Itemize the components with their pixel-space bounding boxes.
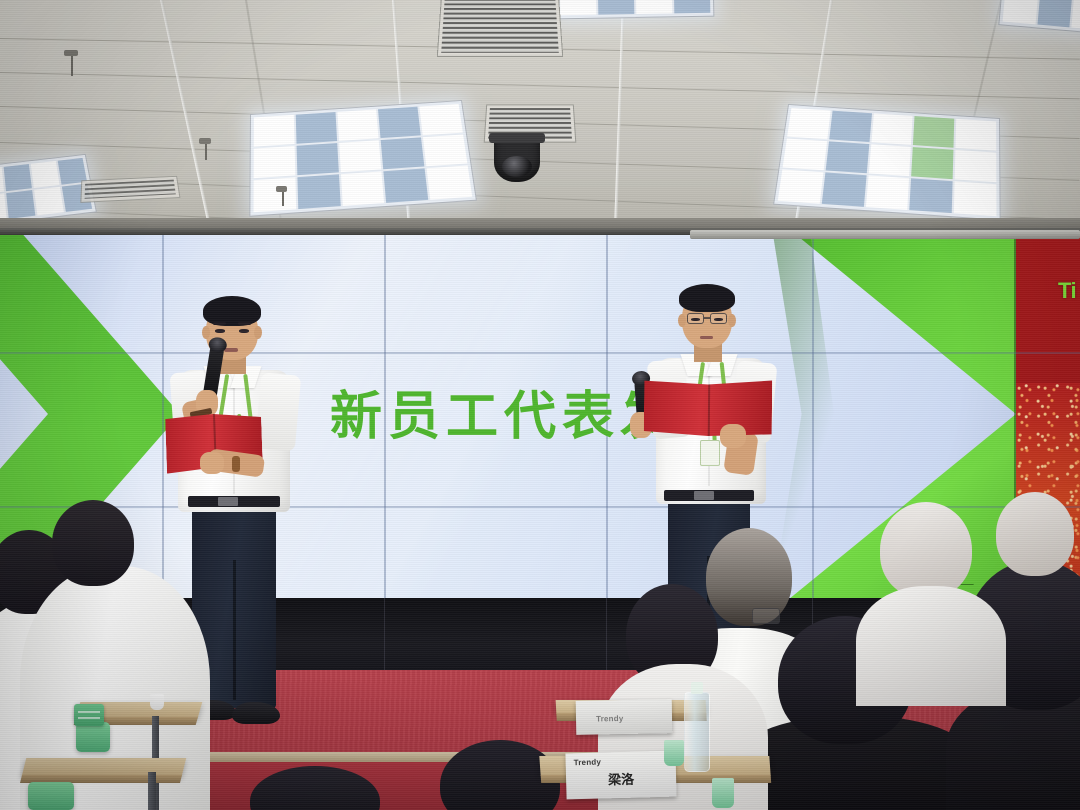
name-card-brand: Trendy [596,714,624,723]
chair[interactable] [76,722,110,752]
desk-leg [148,772,156,810]
name-card-name: 梁洛 [566,768,676,790]
paper-cup [150,694,164,710]
audience-head [250,766,380,810]
name-card: Trendy 梁洛 [565,751,676,800]
water-bottle [684,692,710,772]
paper-cup [664,740,684,766]
chair[interactable] [28,782,74,810]
audience-desk [22,758,186,776]
name-card: Trendy [576,699,673,735]
event-photograph: Ti 新员工代表发言 [0,0,1080,810]
green-tag [74,704,104,726]
name-card-brand: Trendy [574,758,602,768]
paper-cup [712,778,734,808]
audience-member [0,0,1080,810]
